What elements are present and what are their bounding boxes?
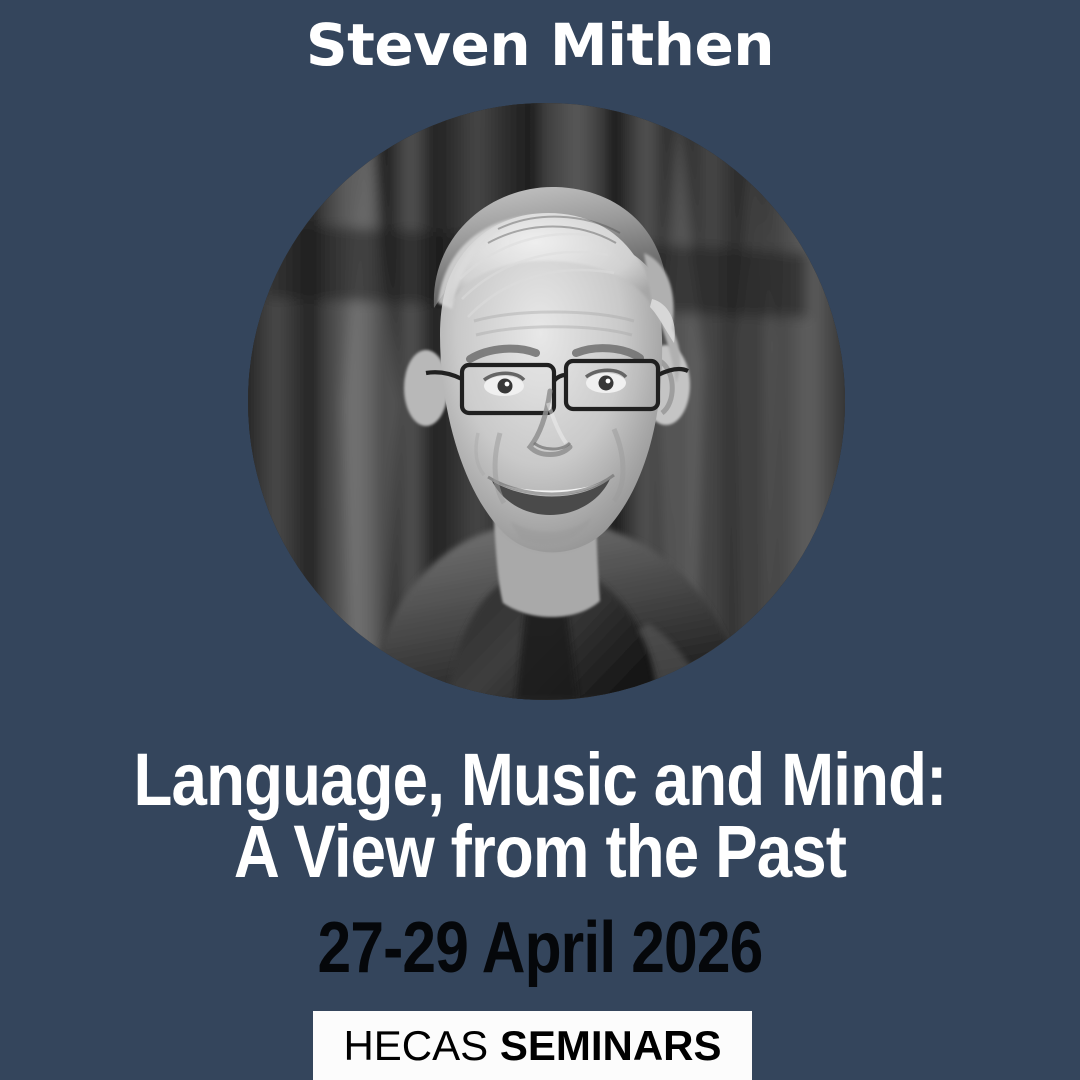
event-date: 27-29 April 2026 bbox=[86, 912, 993, 984]
speaker-portrait bbox=[248, 103, 845, 700]
badge-text: HECAS SEMINARS bbox=[343, 1025, 721, 1067]
event-poster: Steven Mithen bbox=[0, 0, 1080, 1080]
event-title-line-2: A View from the Past bbox=[76, 816, 1005, 888]
badge-bold-text: SEMINARS bbox=[500, 1022, 722, 1069]
badge-light-text: HECAS bbox=[343, 1022, 488, 1069]
hecas-seminars-badge: HECAS SEMINARS bbox=[313, 1011, 752, 1080]
event-title: Language, Music and Mind: A View from th… bbox=[0, 744, 1080, 888]
event-title-line-1: Language, Music and Mind: bbox=[76, 744, 1005, 816]
speaker-portrait-image bbox=[248, 103, 845, 700]
badge-space bbox=[488, 1022, 500, 1069]
speaker-name: Steven Mithen bbox=[0, 16, 1080, 74]
